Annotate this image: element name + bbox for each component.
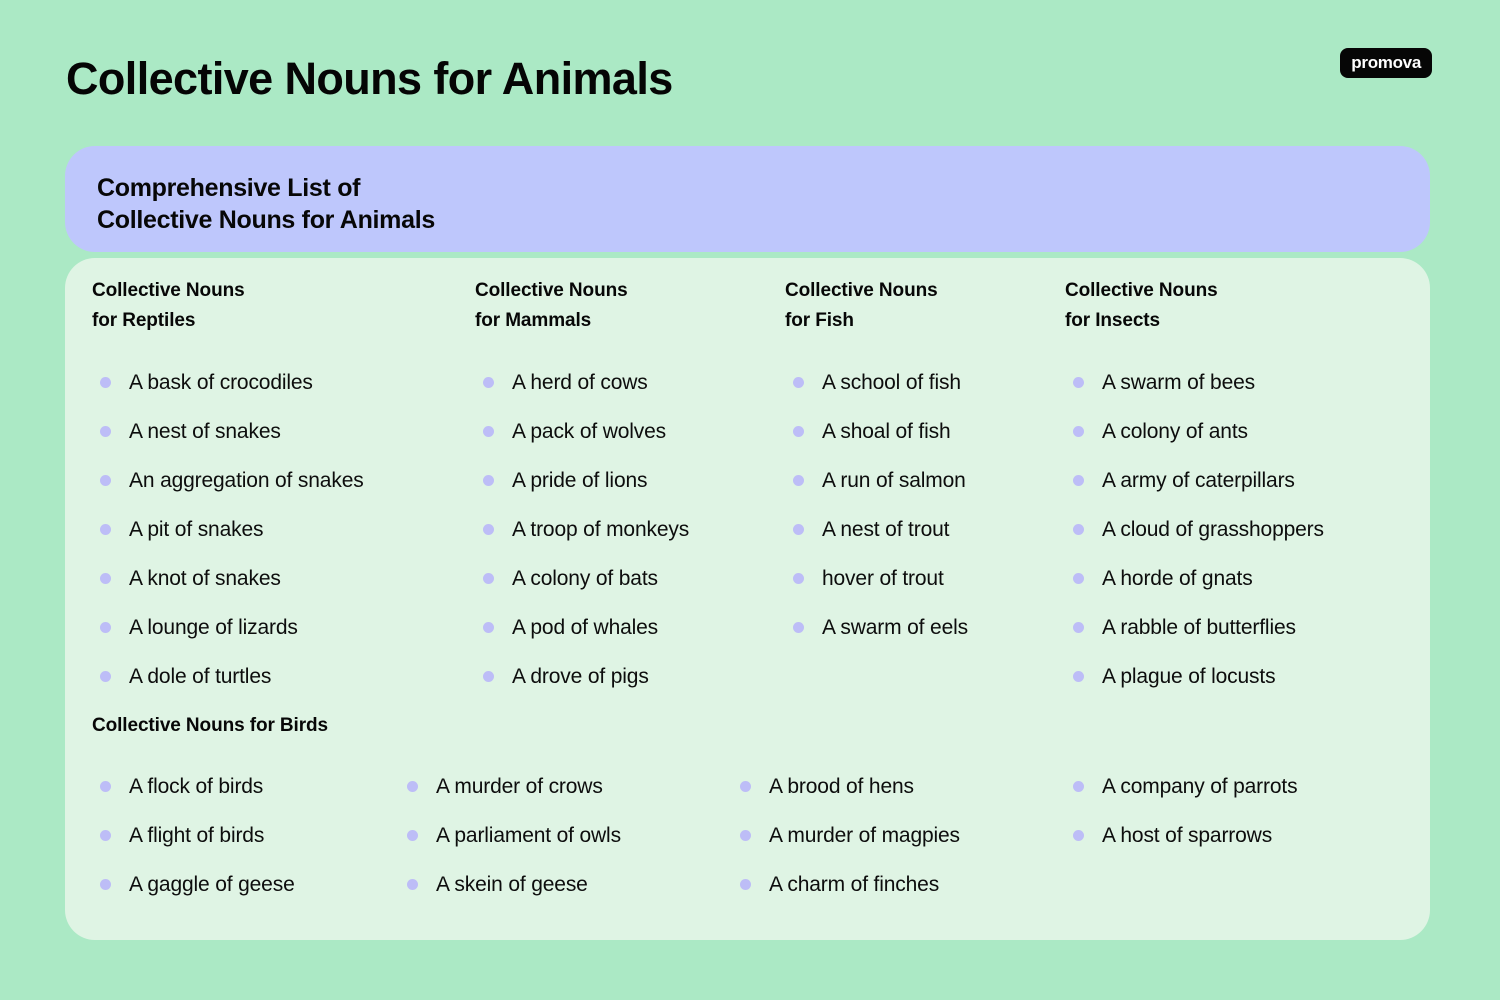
banner-title: Comprehensive List of Collective Nouns f… [97, 172, 1430, 236]
noun-text: A brood of hens [769, 774, 914, 800]
noun-list-birds-4: A company of parrots A host of sparrows [1065, 762, 1395, 860]
bullet-icon [483, 524, 494, 535]
bullet-icon [1073, 475, 1084, 486]
noun-text: A colony of ants [1102, 419, 1248, 445]
list-item: A pride of lions [475, 456, 785, 505]
list-item: A colony of ants [1065, 407, 1395, 456]
list-item: A murder of crows [399, 762, 732, 811]
bullet-icon [483, 622, 494, 633]
list-item: A troop of monkeys [475, 505, 785, 554]
list-item: A murder of magpies [732, 811, 1065, 860]
noun-text: A herd of cows [512, 370, 648, 396]
noun-list-mammals: A herd of cows A pack of wolves A pride … [475, 358, 785, 701]
bullet-icon [100, 475, 111, 486]
noun-text: A army of caterpillars [1102, 468, 1295, 494]
noun-text: A host of sparrows [1102, 823, 1272, 849]
bullet-icon [1073, 426, 1084, 437]
noun-text: A colony of bats [512, 566, 658, 592]
noun-list-birds-2: A murder of crows A parliament of owls A… [399, 762, 732, 909]
noun-text: A murder of magpies [769, 823, 960, 849]
list-item: A army of caterpillars [1065, 456, 1395, 505]
birds-section: Collective Nouns for Birds A flock of bi… [92, 713, 1412, 909]
bullet-icon [793, 426, 804, 437]
list-item: A plague of locusts [1065, 652, 1395, 701]
list-item: A knot of snakes [92, 554, 475, 603]
bullet-icon [1073, 524, 1084, 535]
category-heading-reptiles: Collective Nouns for Reptiles [92, 276, 475, 336]
noun-text: A cloud of grasshoppers [1102, 517, 1324, 543]
birds-column-3: A brood of hens A murder of magpies A ch… [732, 762, 1065, 909]
list-item: A cloud of grasshoppers [1065, 505, 1395, 554]
noun-text: A flight of birds [129, 823, 264, 849]
category-heading-insects: Collective Nouns for Insects [1065, 276, 1395, 336]
list-item: A skein of geese [399, 860, 732, 909]
noun-text: A pack of wolves [512, 419, 666, 445]
noun-text: A swarm of eels [822, 615, 968, 641]
list-item: A pack of wolves [475, 407, 785, 456]
birds-column-1: A flock of birds A flight of birds A gag… [92, 762, 399, 909]
bullet-icon [407, 879, 418, 890]
noun-text: A horde of gnats [1102, 566, 1253, 592]
list-item: A shoal of fish [785, 407, 1065, 456]
list-item: A school of fish [785, 358, 1065, 407]
list-item: A flock of birds [92, 762, 399, 811]
list-item: A brood of hens [732, 762, 1065, 811]
list-item: A nest of trout [785, 505, 1065, 554]
noun-text: A charm of finches [769, 872, 939, 898]
bullet-icon [793, 377, 804, 388]
promova-logo: promova [1340, 48, 1432, 78]
comprehensive-list-banner: Comprehensive List of Collective Nouns f… [65, 146, 1430, 252]
bullet-icon [407, 830, 418, 841]
noun-text: A knot of snakes [129, 566, 281, 592]
list-item: A company of parrots [1065, 762, 1395, 811]
birds-column-4: A company of parrots A host of sparrows [1065, 762, 1395, 909]
noun-text: A shoal of fish [822, 419, 951, 445]
category-heading-birds: Collective Nouns for Birds [92, 713, 1412, 739]
promova-logo-text: promova [1351, 54, 1421, 71]
bullet-icon [100, 781, 111, 792]
noun-text: A school of fish [822, 370, 961, 396]
list-item: A parliament of owls [399, 811, 732, 860]
noun-text: A nest of trout [822, 517, 949, 543]
noun-text: A pit of snakes [129, 517, 263, 543]
bullet-icon [100, 671, 111, 682]
collective-nouns-card: Collective Nouns for Reptiles A bask of … [65, 258, 1430, 940]
list-item: A charm of finches [732, 860, 1065, 909]
list-item: A swarm of bees [1065, 358, 1395, 407]
bullet-icon [1073, 830, 1084, 841]
bullet-icon [740, 830, 751, 841]
bullet-icon [793, 622, 804, 633]
list-item: A flight of birds [92, 811, 399, 860]
list-item: A lounge of lizards [92, 603, 475, 652]
page-header: Collective Nouns for Animals promova [0, 0, 1500, 140]
noun-text: A run of salmon [822, 468, 966, 494]
list-item: A dole of turtles [92, 652, 475, 701]
noun-text: A company of parrots [1102, 774, 1297, 800]
noun-text: A flock of birds [129, 774, 263, 800]
bullet-icon [1073, 377, 1084, 388]
list-item: A drove of pigs [475, 652, 785, 701]
category-column-reptiles: Collective Nouns for Reptiles A bask of … [92, 276, 475, 701]
noun-list-reptiles: A bask of crocodiles A nest of snakes An… [92, 358, 475, 701]
list-item: A bask of crocodiles [92, 358, 475, 407]
bullet-icon [407, 781, 418, 792]
bullet-icon [1073, 573, 1084, 584]
bullet-icon [1073, 781, 1084, 792]
birds-columns: A flock of birds A flight of birds A gag… [92, 762, 1412, 909]
list-item: A swarm of eels [785, 603, 1065, 652]
bullet-icon [793, 475, 804, 486]
list-item: A gaggle of geese [92, 860, 399, 909]
list-item: A nest of snakes [92, 407, 475, 456]
bullet-icon [100, 573, 111, 584]
bullet-icon [483, 671, 494, 682]
list-item: A herd of cows [475, 358, 785, 407]
noun-list-insects: A swarm of bees A colony of ants A army … [1065, 358, 1395, 701]
page-title: Collective Nouns for Animals [66, 55, 673, 102]
noun-text: A rabble of butterflies [1102, 615, 1296, 641]
list-item: A pit of snakes [92, 505, 475, 554]
bullet-icon [100, 426, 111, 437]
list-item: An aggregation of snakes [92, 456, 475, 505]
bullet-icon [740, 781, 751, 792]
noun-text: A gaggle of geese [129, 872, 295, 898]
list-item: A host of sparrows [1065, 811, 1395, 860]
bullet-icon [483, 426, 494, 437]
list-item: A pod of whales [475, 603, 785, 652]
category-heading-fish: Collective Nouns for Fish [785, 276, 1065, 336]
noun-text: A parliament of owls [436, 823, 621, 849]
noun-list-fish: A school of fish A shoal of fish A run o… [785, 358, 1065, 652]
noun-text: A nest of snakes [129, 419, 281, 445]
noun-text: A plague of locusts [1102, 664, 1275, 690]
noun-text: A dole of turtles [129, 664, 271, 690]
bullet-icon [100, 879, 111, 890]
bullet-icon [793, 573, 804, 584]
bullet-icon [483, 475, 494, 486]
noun-text: A swarm of bees [1102, 370, 1255, 396]
bullet-icon [740, 879, 751, 890]
bullet-icon [1073, 622, 1084, 633]
birds-column-2: A murder of crows A parliament of owls A… [399, 762, 732, 909]
list-item: hover of trout [785, 554, 1065, 603]
category-column-insects: Collective Nouns for Insects A swarm of … [1065, 276, 1395, 701]
noun-text: A drove of pigs [512, 664, 649, 690]
noun-text: A lounge of lizards [129, 615, 298, 641]
noun-text: A pride of lions [512, 468, 647, 494]
category-columns: Collective Nouns for Reptiles A bask of … [92, 276, 1412, 701]
bullet-icon [1073, 671, 1084, 682]
list-item: A run of salmon [785, 456, 1065, 505]
noun-list-birds-3: A brood of hens A murder of magpies A ch… [732, 762, 1065, 909]
noun-text: An aggregation of snakes [129, 468, 364, 494]
noun-text: hover of trout [822, 566, 944, 592]
noun-text: A pod of whales [512, 615, 658, 641]
bullet-icon [100, 830, 111, 841]
noun-text: A bask of crocodiles [129, 370, 313, 396]
noun-list-birds-1: A flock of birds A flight of birds A gag… [92, 762, 399, 909]
bullet-icon [483, 377, 494, 388]
noun-text: A murder of crows [436, 774, 603, 800]
category-column-fish: Collective Nouns for Fish A school of fi… [785, 276, 1065, 701]
noun-text: A troop of monkeys [512, 517, 689, 543]
list-item: A colony of bats [475, 554, 785, 603]
category-column-mammals: Collective Nouns for Mammals A herd of c… [475, 276, 785, 701]
list-item: A rabble of butterflies [1065, 603, 1395, 652]
bullet-icon [793, 524, 804, 535]
bullet-icon [100, 377, 111, 388]
list-item: A horde of gnats [1065, 554, 1395, 603]
category-heading-mammals: Collective Nouns for Mammals [475, 276, 785, 336]
noun-text: A skein of geese [436, 872, 588, 898]
bullet-icon [483, 573, 494, 584]
bullet-icon [100, 524, 111, 535]
bullet-icon [100, 622, 111, 633]
